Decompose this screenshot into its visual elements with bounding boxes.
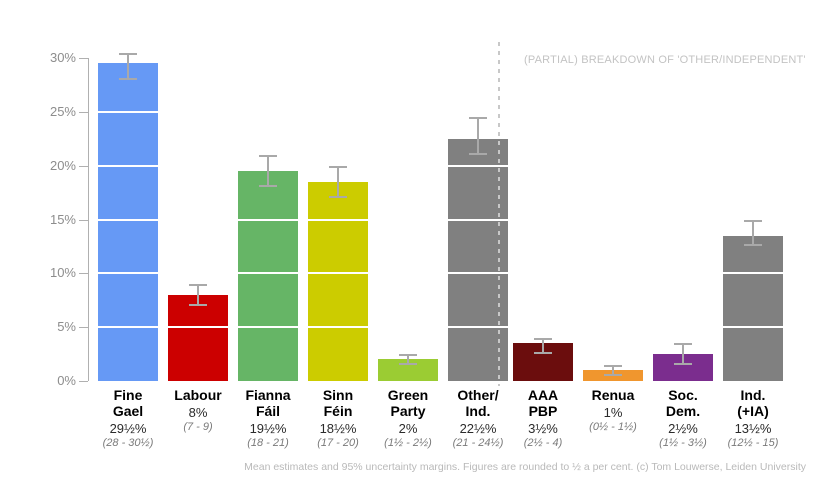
y-axis-tick — [79, 327, 88, 328]
party-confidence-interval: (28 - 30½) — [88, 437, 168, 450]
error-bar-cap-lower — [469, 153, 487, 155]
bar-ind-ia[interactable] — [723, 236, 783, 381]
error-bar-stem — [197, 284, 199, 306]
bar-fianna-fil[interactable] — [238, 171, 298, 381]
error-bar-cap-lower — [259, 185, 277, 187]
x-axis-label-group: Soc. Dem.2½%(1½ - 3½) — [643, 387, 723, 450]
error-bar-cap-upper — [604, 365, 622, 367]
error-bar — [168, 284, 228, 306]
party-confidence-interval: (1½ - 3½) — [643, 437, 723, 450]
x-axis-label-group: Labour8%(7 - 9) — [158, 387, 238, 434]
party-confidence-interval: (18 - 21) — [228, 437, 308, 450]
y-axis-tick — [79, 220, 88, 221]
x-axis-label-group: Sinn Féin18½%(17 - 20) — [298, 387, 378, 450]
party-name: Renua — [573, 387, 653, 403]
error-bar-cap-lower — [189, 304, 207, 306]
error-bar-cap-lower — [604, 374, 622, 376]
error-bar — [308, 166, 368, 198]
error-bar-cap-upper — [534, 338, 552, 340]
party-value: 2% — [368, 420, 448, 437]
y-axis-tick — [79, 166, 88, 167]
bar-fine-gael[interactable] — [98, 63, 158, 381]
error-bar-cap-lower — [534, 352, 552, 354]
error-bar-cap-lower — [329, 196, 347, 198]
party-name: Fianna Fáil — [228, 387, 308, 419]
error-bar-cap-upper — [744, 220, 762, 222]
x-axis-label-group: Renua1%(0½ - 1½) — [573, 387, 653, 434]
error-bar-cap-lower — [744, 244, 762, 246]
party-confidence-interval: (7 - 9) — [158, 421, 238, 434]
error-bar-cap-upper — [329, 166, 347, 168]
party-name: Sinn Féin — [298, 387, 378, 419]
error-bar-stem — [337, 166, 339, 198]
x-axis-label-group: AAA PBP3½%(2½ - 4) — [503, 387, 583, 450]
poll-bar-chart: 0%5%10%15%20%25%30% (PARTIAL) BREAKDOWN … — [0, 0, 816, 480]
error-bar — [238, 155, 298, 187]
party-confidence-interval: (17 - 20) — [298, 437, 378, 450]
error-bar-cap-lower — [119, 78, 137, 80]
party-name: Labour — [158, 387, 238, 403]
breakdown-annotation: (PARTIAL) BREAKDOWN OF 'OTHER/INDEPENDEN… — [524, 54, 806, 66]
error-bar-stem — [752, 220, 754, 247]
error-bar — [583, 365, 643, 376]
error-bar — [378, 354, 438, 365]
error-bar-cap-upper — [674, 343, 692, 345]
error-bar-stem — [682, 343, 684, 365]
party-confidence-interval: (12½ - 15) — [713, 437, 793, 450]
error-bar — [98, 53, 158, 80]
y-axis-tick — [79, 112, 88, 113]
party-value: 29½% — [88, 420, 168, 437]
error-bar-stem — [267, 155, 269, 187]
error-bar-cap-upper — [119, 53, 137, 55]
error-bar-cap-lower — [399, 363, 417, 365]
error-bar — [723, 220, 783, 247]
error-bar-cap-upper — [259, 155, 277, 157]
error-bar-stem — [477, 117, 479, 155]
group-divider — [498, 42, 500, 386]
error-bar-cap-upper — [189, 284, 207, 286]
party-confidence-interval: (2½ - 4) — [503, 437, 583, 450]
error-bar-cap-lower — [674, 363, 692, 365]
party-name: Fine Gael — [88, 387, 168, 419]
party-name: Green Party — [368, 387, 448, 419]
x-axis-label-group: Fianna Fáil19½%(18 - 21) — [228, 387, 308, 450]
error-bar-cap-upper — [399, 354, 417, 356]
x-axis-label-group: Fine Gael29½%(28 - 30½) — [88, 387, 168, 450]
party-value: 8% — [158, 404, 238, 421]
y-axis-tick — [79, 273, 88, 274]
error-bar — [513, 338, 573, 354]
party-confidence-interval: (1½ - 2½) — [368, 437, 448, 450]
chart-footnote: Mean estimates and 95% uncertainty margi… — [0, 461, 806, 473]
error-bar — [653, 343, 713, 365]
party-confidence-interval: (0½ - 1½) — [573, 421, 653, 434]
y-axis-tick — [79, 381, 88, 382]
x-axis-label-group: Green Party2%(1½ - 2½) — [368, 387, 448, 450]
party-value: 13½% — [713, 420, 793, 437]
x-axis-label-group: Ind. (+IA)13½%(12½ - 15) — [713, 387, 793, 450]
party-value: 3½% — [503, 420, 583, 437]
party-value: 1% — [573, 404, 653, 421]
party-name: Soc. Dem. — [643, 387, 723, 419]
bar-sinn-fin[interactable] — [308, 182, 368, 381]
error-bar-stem — [127, 53, 129, 80]
party-name: Ind. (+IA) — [713, 387, 793, 419]
party-value: 18½% — [298, 420, 378, 437]
party-value: 19½% — [228, 420, 308, 437]
party-value: 2½% — [643, 420, 723, 437]
y-axis-tick — [79, 58, 88, 59]
bar-labour[interactable] — [168, 295, 228, 381]
error-bar-cap-upper — [469, 117, 487, 119]
party-name: AAA PBP — [503, 387, 583, 419]
